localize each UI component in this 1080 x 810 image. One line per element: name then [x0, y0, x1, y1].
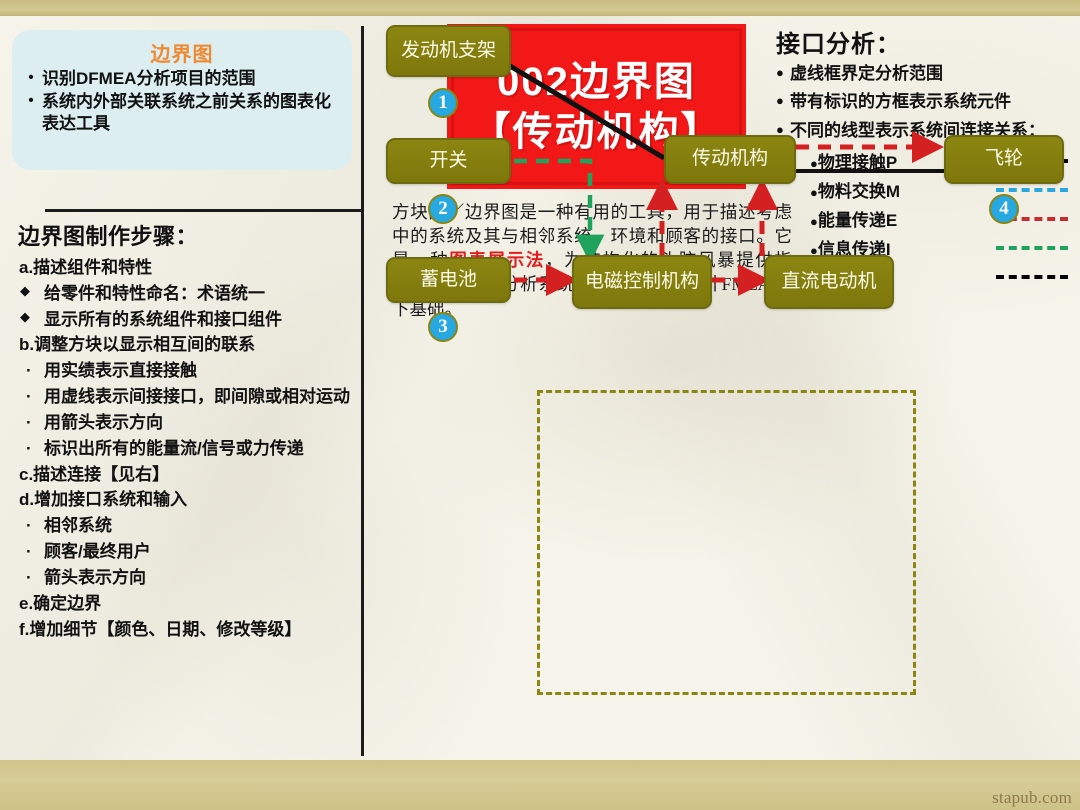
step-text: b.调整方块以显示相互间的联系	[19, 332, 358, 358]
node-number-badge-4: 4	[989, 194, 1019, 224]
node-number-badge-1: 1	[428, 88, 458, 118]
node-switch[interactable]: 开关	[386, 138, 511, 184]
node-label: 发动机支架	[401, 40, 496, 62]
node-label: 传动机构	[692, 148, 768, 170]
step-text: d.增加接口系统和输入	[19, 487, 358, 513]
step-text: 相邻系统	[44, 513, 358, 539]
step-item: c.描述连接【见右】	[18, 462, 358, 488]
step-item: · 标识出所有的能量流/信号或力传递	[18, 436, 358, 462]
step-text: c.描述连接【见右】	[19, 462, 358, 488]
bullet-dot-icon: •	[20, 91, 42, 110]
node-flywheel[interactable]: 飞轮	[944, 135, 1064, 184]
intro-bullet-item: • 识别DFMEA分析项目的范围	[12, 67, 352, 90]
left-column: 边界图 • 识别DFMEA分析项目的范围 • 系统内外部关联系统之前关系的图表化…	[0, 16, 372, 760]
step-text: 用实绩表示直接接触	[44, 358, 358, 384]
dot-bullet-icon: ·	[18, 513, 44, 539]
analysis-boundary-box	[537, 390, 916, 695]
steps-panel: 边界图制作步骤： a.描述组件和特性 ◆ 给零件和特性命名：术语统一 ◆ 显示所…	[18, 219, 358, 642]
diamond-bullet-icon: ◆	[18, 307, 44, 327]
step-item: b.调整方块以显示相互间的联系	[18, 332, 358, 358]
intro-bullet-item: • 系统内外部关联系统之前关系的图表化表达工具	[12, 90, 352, 135]
node-battery[interactable]: 蓄电池	[386, 257, 511, 303]
watermark: stapub.com	[992, 788, 1072, 808]
slide-canvas: stapub.com 边界图 • 识别DFMEA分析项目的范围 • 系统内外部关…	[0, 0, 1080, 810]
diamond-bullet-icon: ◆	[18, 281, 44, 301]
step-item: e.确定边界	[18, 591, 358, 617]
dot-bullet-icon: ·	[18, 358, 44, 384]
step-text: e.确定边界	[19, 591, 358, 617]
step-text: 给零件和特性命名：术语统一	[44, 281, 358, 307]
step-text: 用箭头表示方向	[44, 410, 358, 436]
node-label: 电磁控制机构	[585, 271, 699, 293]
dot-bullet-icon: ·	[18, 410, 44, 436]
node-number-badge-3: 3	[428, 312, 458, 342]
node-label: 开关	[429, 150, 467, 172]
bottom-decorative-band	[0, 760, 1080, 810]
top-decorative-band	[0, 0, 1080, 16]
boundary-diagram: 方块图／边界图是一种有用的工具，用于描述考虑中的系统及其与相邻系统、环境和顾客的…	[372, 16, 1080, 760]
dot-bullet-icon: ·	[18, 539, 44, 565]
step-text: 箭头表示方向	[44, 565, 358, 591]
step-item: · 箭头表示方向	[18, 565, 358, 591]
node-label: 飞轮	[985, 148, 1023, 170]
dot-bullet-icon: ·	[18, 565, 44, 591]
node-solenoid-control[interactable]: 电磁控制机构	[572, 255, 712, 309]
step-text: 显示所有的系统组件和接口组件	[44, 307, 358, 333]
dot-bullet-icon: ·	[18, 436, 44, 462]
node-label: 直流电动机	[781, 271, 876, 293]
step-item: · 顾客/最终用户	[18, 539, 358, 565]
step-item: ◆ 给零件和特性命名：术语统一	[18, 281, 358, 307]
step-item: a.描述组件和特性	[18, 255, 358, 281]
intro-card: 边界图 • 识别DFMEA分析项目的范围 • 系统内外部关联系统之前关系的图表化…	[12, 30, 352, 170]
horizontal-divider	[45, 209, 363, 212]
intro-card-title: 边界图	[12, 30, 352, 67]
node-label: 蓄电池	[420, 269, 477, 291]
step-item: d.增加接口系统和输入	[18, 487, 358, 513]
step-item: ◆ 显示所有的系统组件和接口组件	[18, 307, 358, 333]
node-transmission[interactable]: 传动机构	[664, 135, 796, 184]
step-item: f.增加细节【颜色、日期、修改等级】	[18, 617, 358, 643]
dot-bullet-icon: ·	[18, 384, 44, 410]
step-text: 顾客/最终用户	[44, 539, 358, 565]
step-text: a.描述组件和特性	[19, 255, 358, 281]
step-text: f.增加细节【颜色、日期、修改等级】	[19, 617, 358, 643]
vertical-divider	[361, 26, 364, 756]
step-item: · 相邻系统	[18, 513, 358, 539]
steps-heading: 边界图制作步骤：	[18, 219, 358, 251]
node-number-badge-2: 2	[428, 194, 458, 224]
step-text: 标识出所有的能量流/信号或力传递	[44, 436, 358, 462]
node-engine-mount[interactable]: 发动机支架	[386, 25, 511, 77]
step-item: · 用实绩表示直接接触	[18, 358, 358, 384]
intro-bullet-text: 识别DFMEA分析项目的范围	[42, 68, 338, 90]
bullet-dot-icon: •	[20, 68, 42, 87]
edge-engine-mount-to-transmission	[510, 66, 664, 158]
step-item: · 用箭头表示方向	[18, 410, 358, 436]
node-dc-motor[interactable]: 直流电动机	[764, 255, 894, 309]
intro-bullet-text: 系统内外部关联系统之前关系的图表化表达工具	[42, 91, 338, 135]
step-item: · 用虚线表示间接接口，即间隙或相对运动	[18, 384, 358, 410]
step-text: 用虚线表示间接接口，即间隙或相对运动	[44, 384, 358, 410]
